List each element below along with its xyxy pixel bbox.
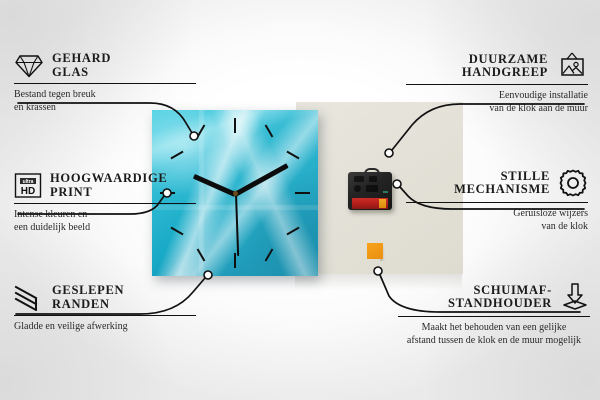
- connector-stille-mechanisme: [400, 187, 584, 209]
- connector-endpoint-gehard-glas: [190, 132, 198, 140]
- callout-connectors: [0, 0, 600, 400]
- connector-endpoint-schuimafstandhouder: [374, 267, 382, 275]
- connector-endpoint-duurzame-handgreep: [385, 149, 393, 157]
- connector-hoogwaardige-print: [18, 196, 164, 214]
- infographic-canvas: GEHARD GLAS Bestand tegen breuk en krass…: [0, 0, 600, 400]
- connector-endpoint-geslepen-randen: [204, 271, 212, 279]
- connector-geslepen-randen: [16, 278, 205, 314]
- connector-endpoint-hoogwaardige-print: [163, 189, 171, 197]
- connector-endpoint-stille-mechanisme: [393, 180, 401, 188]
- connector-gehard-glas: [18, 103, 192, 133]
- connector-duurzame-handgreep: [392, 104, 584, 150]
- connector-schuimafstandhouder: [380, 275, 580, 312]
